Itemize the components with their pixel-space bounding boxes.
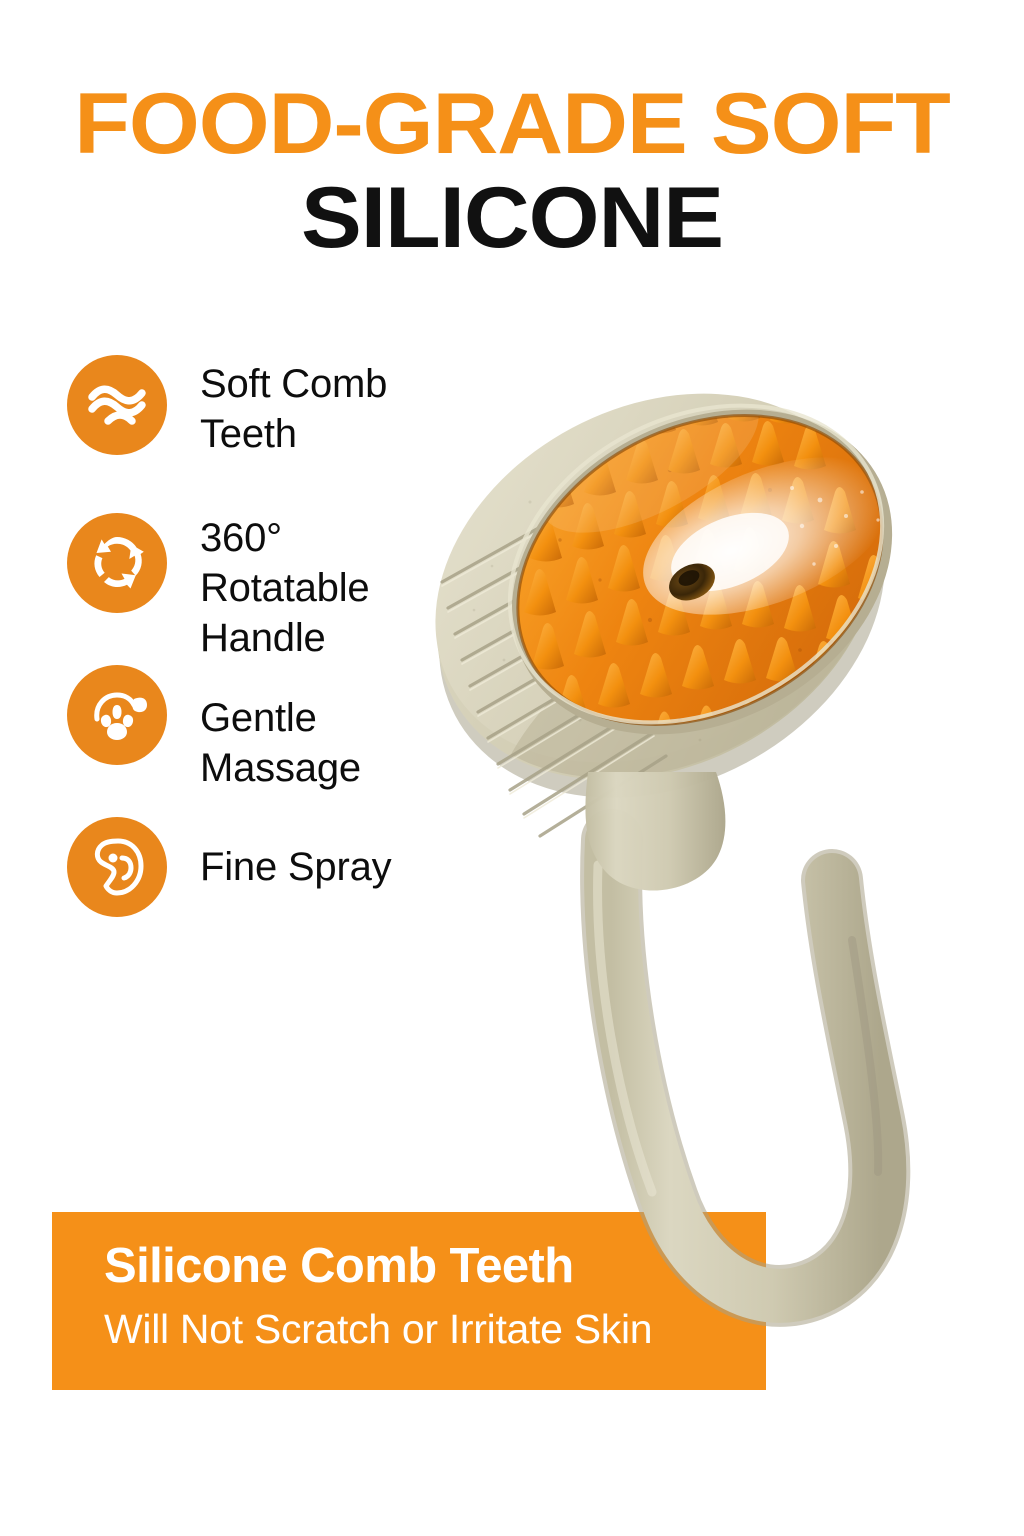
product-image bbox=[400, 320, 1020, 1380]
feature-label-360-rotatable-handle: 360° Rotatable Handle bbox=[200, 513, 369, 663]
feature-item-soft-comb-teeth[interactable]: Soft Comb Teeth bbox=[67, 355, 387, 459]
feature-item-gentle-massage[interactable]: Gentle Massage bbox=[67, 665, 361, 793]
feature-item-360-rotatable-handle[interactable]: 360° Rotatable Handle bbox=[67, 513, 369, 663]
feature-label-gentle-massage: Gentle Massage bbox=[200, 665, 361, 793]
feature-label-soft-comb-teeth: Soft Comb Teeth bbox=[200, 355, 387, 459]
headline-block: FOOD-GRADE SOFT SILICONE bbox=[0, 78, 1024, 266]
spray-drop-icon bbox=[67, 817, 167, 917]
paw-leaf-icon bbox=[67, 665, 167, 765]
feature-item-fine-spray[interactable]: Fine Spray bbox=[67, 817, 391, 917]
headline-line-1: FOOD-GRADE SOFT bbox=[0, 78, 1024, 170]
infographic-page: FOOD-GRADE SOFT SILICONE bbox=[0, 0, 1024, 1536]
headline-line-2: SILICONE bbox=[0, 170, 1024, 266]
feature-label-fine-spray: Fine Spray bbox=[200, 817, 391, 892]
rotate-360-icon bbox=[67, 513, 167, 613]
u-shaped-rotatable-handle bbox=[598, 840, 880, 1296]
waves-icon bbox=[67, 355, 167, 455]
